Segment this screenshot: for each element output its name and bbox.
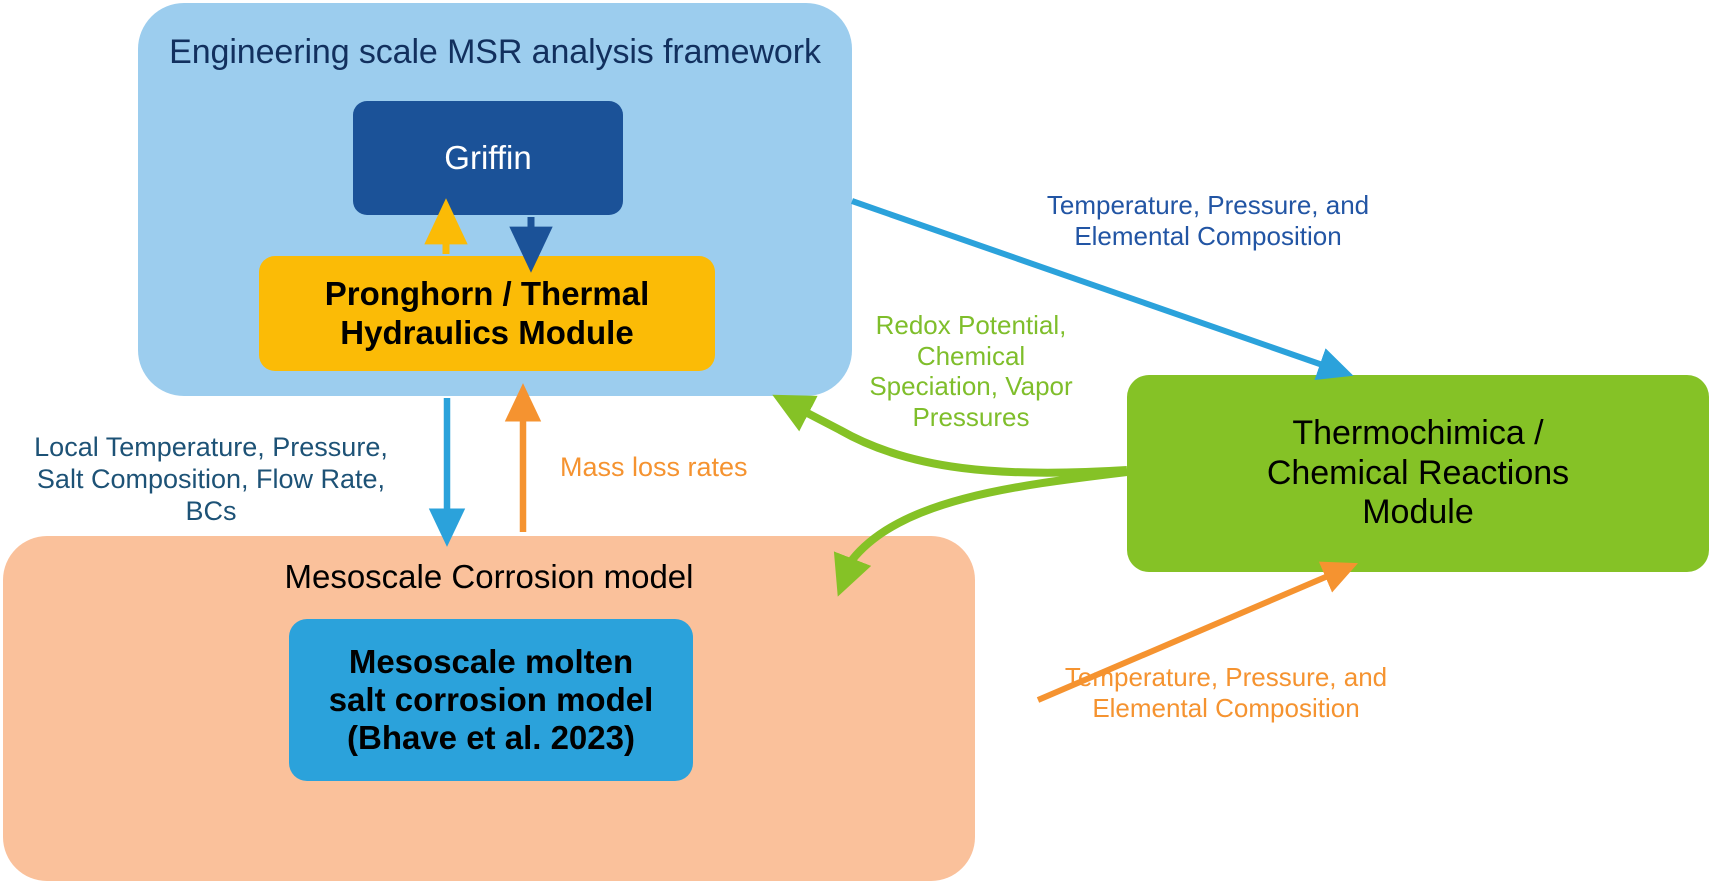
- label-temperature-pressure-top: Temperature, Pressure, and Elemental Com…: [1018, 190, 1398, 251]
- label-local-temperature: Local Temperature, Pressure, Salt Compos…: [16, 432, 406, 528]
- node-griffin: Griffin: [353, 101, 623, 215]
- label-temperature-pressure-bottom: Temperature, Pressure, and Elemental Com…: [1040, 662, 1412, 723]
- node-mesoscale-model-label: Mesoscale molten salt corrosion model (B…: [329, 643, 654, 758]
- label-mass-loss-rates: Mass loss rates: [560, 452, 776, 484]
- node-thermochimica: Thermochimica / Chemical Reactions Modul…: [1127, 375, 1709, 572]
- node-mesoscale-model: Mesoscale molten salt corrosion model (B…: [289, 619, 693, 781]
- node-thermochimica-label: Thermochimica / Chemical Reactions Modul…: [1267, 414, 1569, 532]
- node-griffin-label: Griffin: [444, 139, 531, 177]
- label-redox-potential: Redox Potential, Chemical Speciation, Va…: [855, 310, 1087, 433]
- framework-title: Engineering scale MSR analysis framework: [138, 33, 852, 72]
- corrosion-title: Mesoscale Corrosion model: [3, 558, 975, 596]
- node-pronghorn: Pronghorn / Thermal Hydraulics Module: [259, 256, 715, 371]
- diagram-canvas: Engineering scale MSR analysis framework…: [0, 0, 1709, 881]
- node-pronghorn-label: Pronghorn / Thermal Hydraulics Module: [325, 275, 650, 352]
